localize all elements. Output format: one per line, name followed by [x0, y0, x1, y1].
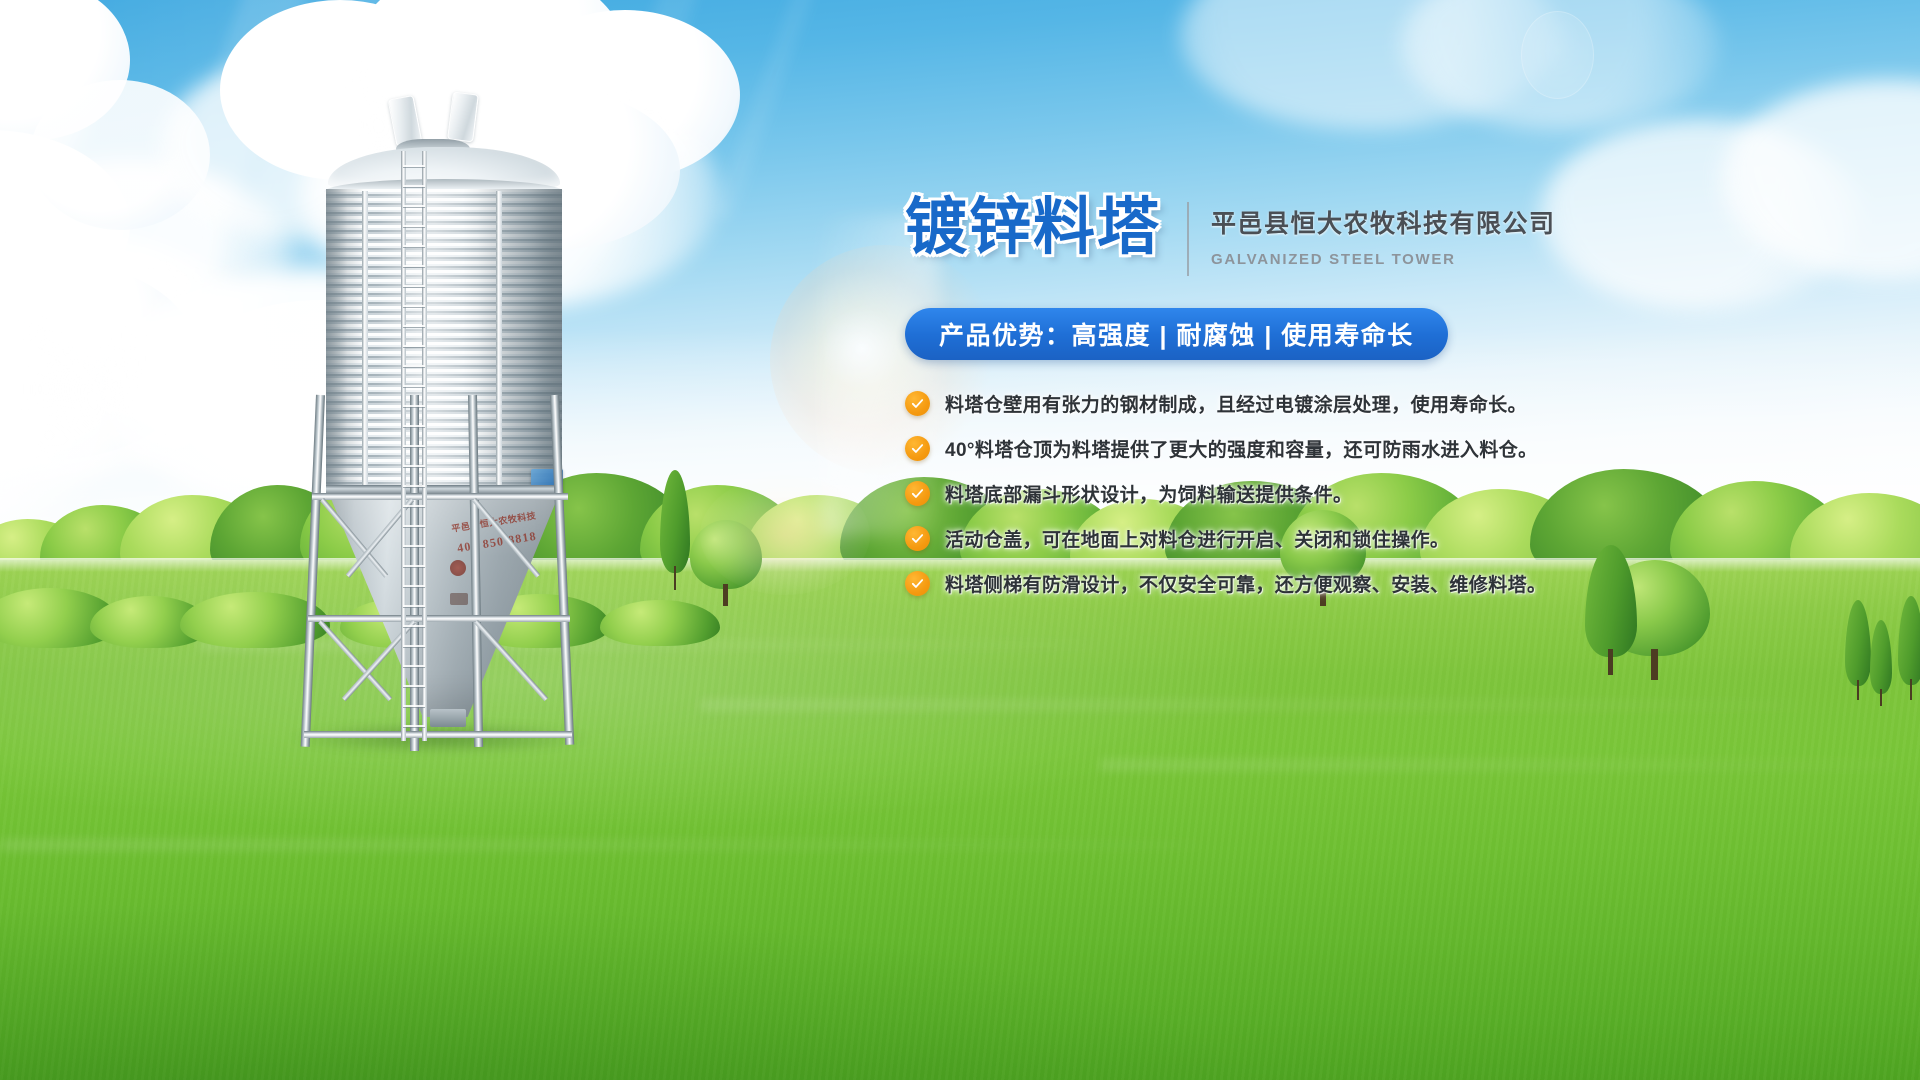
- silo-phone-number: 400 850 8818: [456, 529, 538, 555]
- silo-ring-beam: [312, 493, 568, 500]
- hero-banner-scene: 平邑县恒大农牧科技 400 850 8818: [0, 0, 1920, 1080]
- silo-ring-beam: [308, 615, 570, 622]
- silo-side-ladder: [401, 151, 427, 741]
- lens-flare-circle-icon: [1521, 11, 1594, 99]
- title-divider: [1187, 202, 1189, 276]
- silo-lid-handle-right: [447, 92, 479, 143]
- conifer-tree: [660, 470, 690, 590]
- conifer-tree: [1845, 600, 1871, 700]
- lens-dot-icon: [400, 26, 418, 44]
- silo-inspection-port: [450, 560, 466, 576]
- check-icon: [905, 571, 930, 596]
- cloud-top-right: [1180, 0, 1660, 190]
- list-item-label: 40°料塔仓顶为料塔提供了更大的强度和容量，还可防雨水进入料仓。: [945, 435, 1538, 462]
- banner-text-panel: 镀锌料塔 平邑县恒大农牧科技有限公司 GALVANIZED STEEL TOWE…: [905, 190, 1605, 615]
- silo-ring-beam: [304, 731, 572, 738]
- list-item: 料塔底部漏斗形状设计，为饲料输送提供条件。: [905, 480, 1605, 507]
- list-item-label: 料塔仓壁用有张力的钢材制成，且经过电镀涂层处理，使用寿命长。: [945, 390, 1527, 417]
- list-item: 活动仓盖，可在地面上对料仓进行开启、关闭和锁住操作。: [905, 525, 1605, 552]
- page-title: 镀锌料塔: [905, 190, 1161, 258]
- galvanized-steel-silo: 平邑县恒大农牧科技 400 850 8818: [300, 95, 600, 745]
- check-icon: [905, 436, 930, 461]
- product-advantage-bar[interactable]: 产品优势：高强度 | 耐腐蚀 | 使用寿命长: [905, 308, 1448, 360]
- silo-cone-rim: [326, 485, 562, 493]
- company-block: 平邑县恒大农牧科技有限公司 GALVANIZED STEEL TOWER: [1211, 190, 1556, 268]
- field-foreground-shade: [0, 780, 1920, 1080]
- list-item: 料塔侧梯有防滑设计，不仅安全可靠，还方便观察、安装、维修料塔。: [905, 570, 1605, 597]
- check-icon: [905, 526, 930, 551]
- silo-outlet: [430, 709, 466, 727]
- company-name: 平邑县恒大农牧科技有限公司: [1211, 204, 1556, 240]
- list-item-label: 料塔侧梯有防滑设计，不仅安全可靠，还方便观察、安装、维修料塔。: [945, 570, 1546, 597]
- check-icon: [905, 391, 930, 416]
- list-item: 料塔仓壁用有张力的钢材制成，且经过电镀涂层处理，使用寿命长。: [905, 390, 1605, 417]
- feature-list: 料塔仓壁用有张力的钢材制成，且经过电镀涂层处理，使用寿命长。 40°料塔仓顶为料…: [905, 390, 1605, 597]
- product-advantage-label: 产品优势：高强度 | 耐腐蚀 | 使用寿命长: [939, 316, 1414, 352]
- silo-leg: [550, 395, 574, 745]
- silo-vertical-seam: [496, 191, 502, 489]
- company-name-english: GALVANIZED STEEL TOWER: [1211, 251, 1556, 268]
- conifer-tree: [1898, 596, 1920, 700]
- list-item: 40°料塔仓顶为料塔提供了更大的强度和容量，还可防雨水进入料仓。: [905, 435, 1605, 462]
- bush: [600, 600, 720, 646]
- silo-vertical-seam: [362, 191, 368, 489]
- list-item-label: 料塔底部漏斗形状设计，为饲料输送提供条件。: [945, 480, 1352, 507]
- list-item-label: 活动仓盖，可在地面上对料仓进行开启、关闭和锁住操作。: [945, 525, 1449, 552]
- tree: [690, 520, 762, 606]
- silo-hatch: [450, 593, 468, 605]
- title-row: 镀锌料塔 平邑县恒大农牧科技有限公司 GALVANIZED STEEL TOWE…: [905, 190, 1605, 276]
- mow-stripe: [1100, 760, 1900, 770]
- conifer-tree: [1870, 620, 1892, 706]
- mow-stripe: [700, 700, 1800, 710]
- check-icon: [905, 481, 930, 506]
- silo-leg: [301, 395, 325, 747]
